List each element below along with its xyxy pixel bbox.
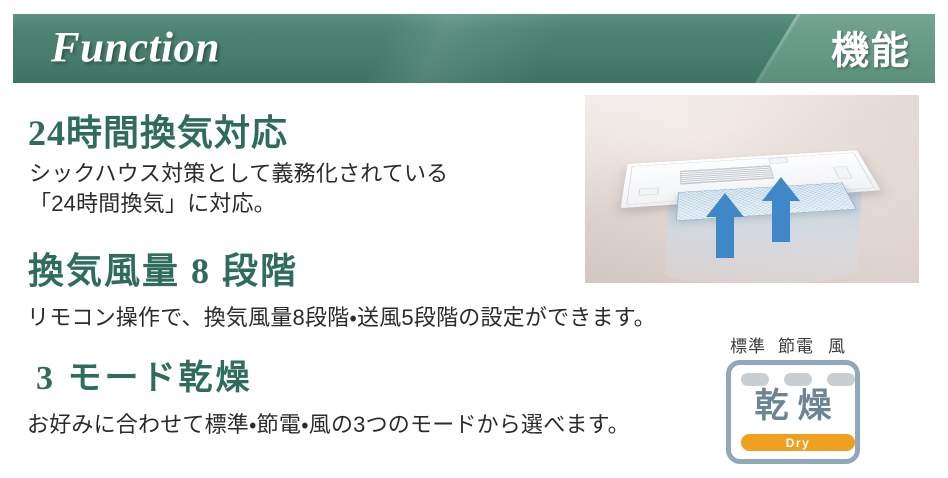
mode-indicator-1 xyxy=(741,373,769,386)
feature-2-body-line-1: リモコン操作で、換気風量8段階・送風5段階の設定ができます。 xyxy=(27,300,656,332)
feature-1-body-line-1: シックハウス対策として義務化されている xyxy=(29,156,448,188)
ceiling-unit-photo xyxy=(585,95,919,283)
page-title-english: Function xyxy=(51,23,220,72)
remote-mode-indicators xyxy=(741,373,855,387)
arrow-head xyxy=(706,193,744,217)
remote-display: 標準 節電 風 乾燥 Dry xyxy=(722,332,902,470)
arrow-shaft xyxy=(772,200,790,242)
page-title-japanese: 機能 xyxy=(831,19,911,74)
dry-status-badge: Dry xyxy=(741,434,855,451)
remote-mode-text: 乾燥 xyxy=(731,389,855,423)
remote-mode-labels: 標準 節電 風 xyxy=(730,332,900,357)
feature-1-heading: 24時間換気対応 xyxy=(28,104,288,156)
feature-3-body-line-1: お好みに合わせて標準・節電・風の3つのモードから選べます。 xyxy=(27,407,630,439)
arrow-head xyxy=(762,177,800,201)
mode-indicator-3 xyxy=(827,373,855,386)
feature-1-body-line-2: 「24時間換気」に対応。 xyxy=(29,186,276,218)
arrow-shaft xyxy=(716,216,734,258)
feature-2-heading: 換気風量 8 段階 xyxy=(28,242,298,294)
remote-screen: 乾燥 Dry xyxy=(726,360,860,464)
mode-label-eco: 節電 xyxy=(778,332,828,357)
mode-label-standard: 標準 xyxy=(730,332,778,357)
mode-indicator-2 xyxy=(784,373,812,386)
mode-label-wind: 風 xyxy=(828,332,858,357)
unit-tab-top xyxy=(768,157,788,164)
feature-3-heading: 3 モード乾燥 xyxy=(36,350,253,399)
header-bar: Function 機能 xyxy=(13,14,935,83)
function-feature-panel: Function 機能 24時間換気対応 シックハウス対策として義務化されている… xyxy=(0,0,948,478)
dry-status-label: Dry xyxy=(786,437,811,449)
